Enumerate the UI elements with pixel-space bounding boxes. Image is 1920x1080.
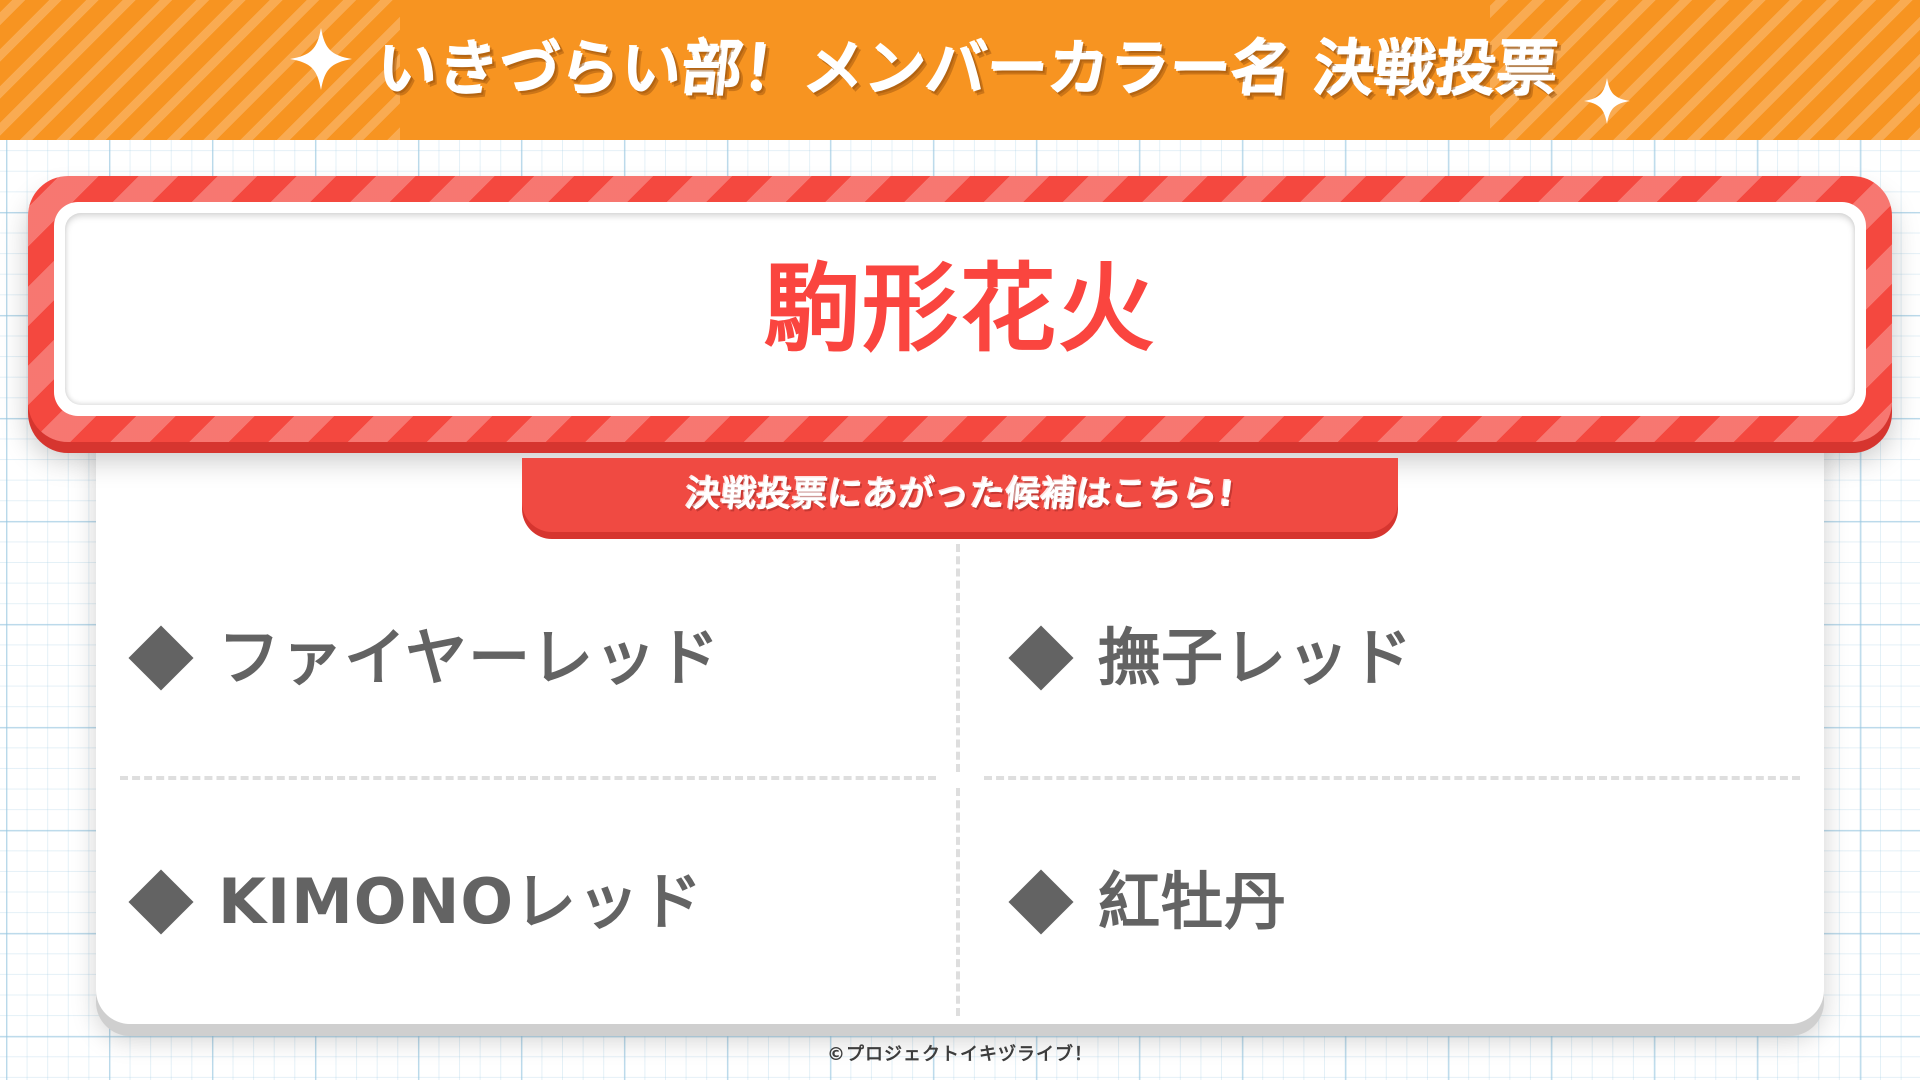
candidate-option-3[interactable]: KIMONOレッド: [96, 780, 960, 1024]
name-plate-ring: 駒形花火: [54, 202, 1866, 416]
candidate-option-1[interactable]: ファイヤーレッド: [96, 536, 960, 780]
candidate-label: KIMONOレッド: [218, 871, 703, 933]
candidate-option-2[interactable]: 撫子レッド: [960, 536, 1824, 780]
page-root: いきづらい部！メンバーカラー名 決戦投票 駒形花火 決戦投票にあがった候補はこち…: [0, 0, 1920, 1080]
name-plate-inner: 駒形花火: [65, 213, 1855, 405]
candidates-ribbon-badge: 決戦投票にあがった候補はこちら!: [522, 458, 1398, 532]
candidate-grid: ファイヤーレッド 撫子レッド KIMONOレッド 紅牡丹: [96, 536, 1824, 1024]
sparkle-icon: [290, 28, 352, 90]
candidate-label: 紅牡丹: [1098, 871, 1287, 933]
member-name: 駒形花火: [764, 261, 1156, 357]
candidate-label: 撫子レッド: [1098, 627, 1413, 689]
diamond-icon: [1008, 625, 1073, 690]
copyright-text: ©プロジェクトイキヅライブ！: [827, 1044, 1093, 1065]
ribbon-label: 決戦投票にあがった候補はこちら!: [684, 478, 1237, 513]
footer: ©プロジェクトイキヅライブ！: [0, 1040, 1920, 1066]
diamond-icon: [1008, 869, 1073, 934]
diamond-icon: [128, 625, 193, 690]
candidate-label: ファイヤーレッド: [218, 627, 720, 689]
candidate-option-4[interactable]: 紅牡丹: [960, 780, 1824, 1024]
diamond-icon: [128, 869, 193, 934]
page-title: いきづらい部！メンバーカラー名 決戦投票: [374, 40, 1561, 100]
header-content: いきづらい部！メンバーカラー名 決戦投票: [0, 0, 1920, 140]
sparkle-icon: [1584, 78, 1630, 124]
member-name-plate: 駒形花火: [28, 176, 1892, 442]
header-banner: いきづらい部！メンバーカラー名 決戦投票: [0, 0, 1920, 140]
